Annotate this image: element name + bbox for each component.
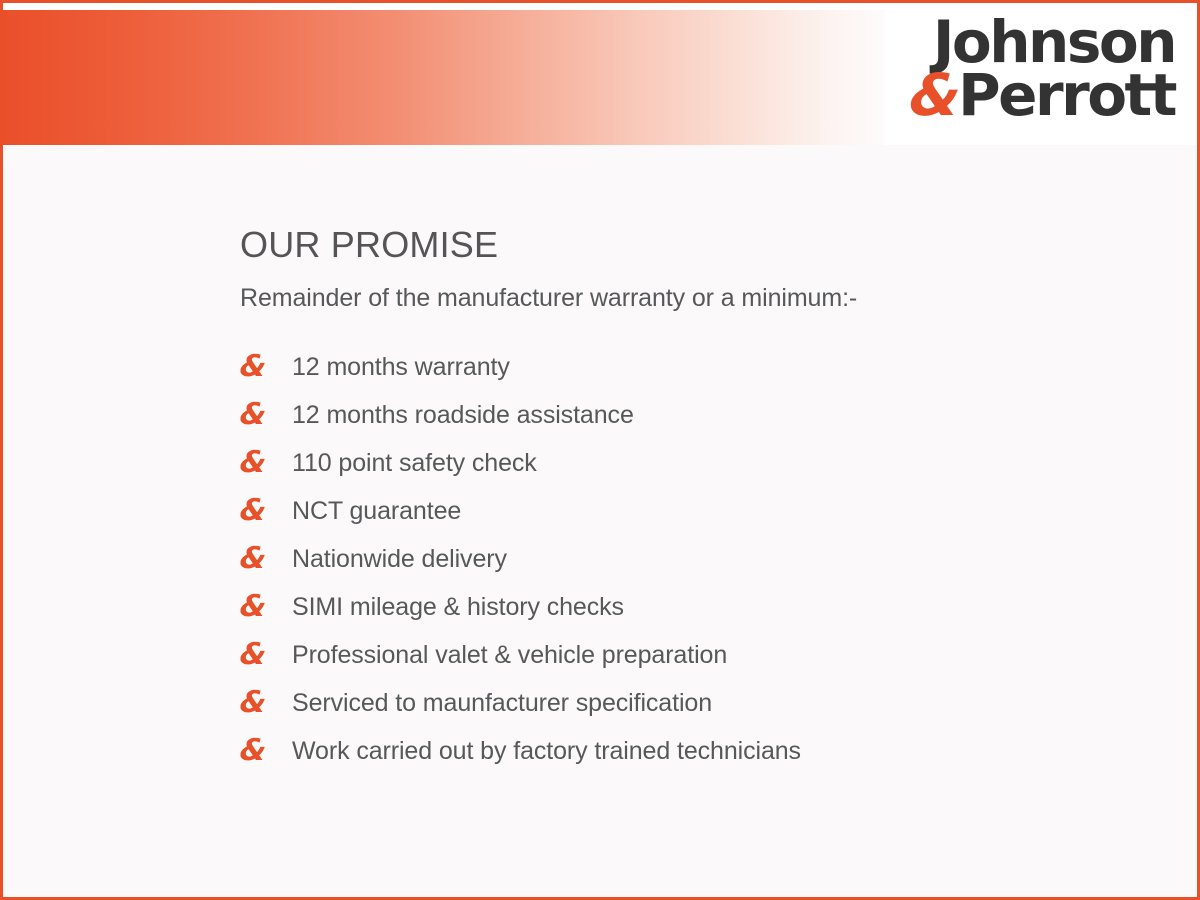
list-item: & Work carried out by factory trained te…	[240, 727, 1160, 775]
ampersand-bullet-icon: &	[238, 352, 293, 382]
list-item-label: Serviced to maunfacturer specification	[292, 688, 712, 718]
list-item: & 110 point safety check	[240, 439, 1160, 487]
ampersand-bullet-icon: &	[238, 592, 293, 622]
ampersand-bullet-icon: &	[238, 640, 293, 670]
list-item-label: SIMI mileage & history checks	[292, 592, 624, 622]
list-item: & SIMI mileage & history checks	[240, 583, 1160, 631]
list-item: & 12 months roadside assistance	[240, 391, 1160, 439]
page-title: OUR PROMISE	[240, 225, 1160, 265]
list-item-label: Nationwide delivery	[292, 544, 507, 574]
ampersand-bullet-icon: &	[238, 400, 293, 430]
list-item-label: 110 point safety check	[292, 448, 537, 478]
promise-list: & 12 months warranty & 12 months roadsid…	[240, 343, 1160, 775]
list-item: & Nationwide delivery	[240, 535, 1160, 583]
list-item: & NCT guarantee	[240, 487, 1160, 535]
page-header: Johnson &Perrott	[3, 3, 1197, 145]
logo-text-perrott-word: Perrott	[958, 61, 1175, 129]
ampersand-bullet-icon: &	[238, 496, 293, 526]
list-item-label: 12 months warranty	[292, 352, 510, 382]
promise-page: Johnson &Perrott OUR PROMISE Remainder o…	[0, 0, 1200, 900]
brand-logo: Johnson &Perrott	[910, 17, 1175, 121]
list-item-label: 12 months roadside assistance	[292, 400, 634, 430]
list-item: & Professional valet & vehicle preparati…	[240, 631, 1160, 679]
list-item-label: Work carried out by factory trained tech…	[292, 736, 801, 766]
list-item: & Serviced to maunfacturer specification	[240, 679, 1160, 727]
logo-text-perrott: &Perrott	[910, 70, 1175, 121]
promise-subtitle: Remainder of the manufacturer warranty o…	[240, 283, 1160, 313]
ampersand-bullet-icon: &	[238, 448, 293, 478]
list-item: & 12 months warranty	[240, 343, 1160, 391]
list-item-label: Professional valet & vehicle preparation	[292, 640, 727, 670]
promise-content: OUR PROMISE Remainder of the manufacture…	[240, 225, 1160, 775]
header-gradient-band	[3, 10, 885, 145]
list-item-label: NCT guarantee	[292, 496, 461, 526]
ampersand-bullet-icon: &	[238, 544, 293, 574]
ampersand-bullet-icon: &	[238, 736, 293, 766]
ampersand-bullet-icon: &	[238, 688, 293, 718]
logo-ampersand-icon: &	[907, 70, 960, 121]
